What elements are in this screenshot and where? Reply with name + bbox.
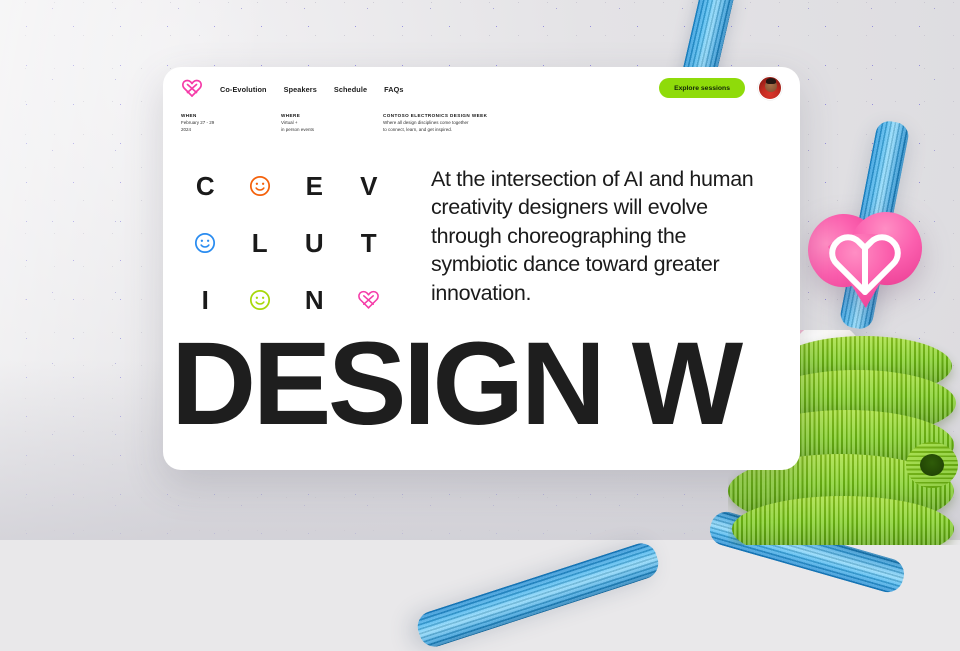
meta-column-where: WHERE Virtual + in person events (281, 113, 383, 134)
explore-sessions-button[interactable]: Explore sessions (659, 78, 745, 98)
letter-grid: C E V (178, 157, 396, 328)
coil-tube-opening (906, 442, 958, 488)
letter-cell (178, 232, 233, 254)
letter-cell: E (287, 173, 342, 199)
pink-heart-cushion (806, 208, 922, 312)
meta-about-title: CONTOSO ELECTRONICS DESIGN WEEK (383, 113, 623, 118)
meta-where-title: WHERE (281, 113, 383, 118)
letter-cell: T (342, 230, 397, 256)
meta-where-line1: Virtual + (281, 120, 383, 127)
letter-cell (233, 175, 288, 197)
grid-letter-t: T (361, 230, 377, 256)
smiley-blue-icon (194, 232, 216, 254)
user-avatar[interactable] (758, 76, 782, 100)
letter-grid-row: C E V (178, 157, 396, 214)
blue-corrugated-tube (414, 539, 663, 650)
letter-cell: N (287, 287, 342, 313)
hero-headline: At the intersection of AI and human crea… (431, 165, 771, 307)
nav-link-schedule[interactable]: Schedule (334, 85, 367, 94)
grid-letter-e: E (306, 173, 323, 199)
hero-card: Co-Evolution Speakers Schedule FAQs Expl… (163, 67, 800, 470)
letter-cell: L (233, 230, 288, 256)
heart-logo-icon (357, 289, 380, 310)
letter-cell (342, 289, 397, 310)
letter-cell: C (178, 173, 233, 199)
nav-link-co-evolution[interactable]: Co-Evolution (220, 85, 267, 94)
meta-where-line2: in person events (281, 127, 383, 134)
letter-grid-row: L U T (178, 214, 396, 271)
nav-links: Co-Evolution Speakers Schedule FAQs (220, 67, 404, 111)
meta-column-when: WHEN February 27 - 29 2024 (181, 113, 281, 134)
grid-letter-c: C (196, 173, 215, 199)
grid-letter-n: N (305, 287, 324, 313)
heart-logo-icon (826, 226, 904, 298)
meta-when-line2: 2024 (181, 127, 281, 134)
nav-link-speakers[interactable]: Speakers (284, 85, 317, 94)
top-navigation: Co-Evolution Speakers Schedule FAQs Expl… (163, 67, 800, 111)
letter-cell: U (287, 230, 342, 256)
grid-letter-l: L (252, 230, 268, 256)
meta-when-line1: February 27 - 29 (181, 120, 281, 127)
heart-logo-icon[interactable] (181, 78, 203, 98)
letter-cell: I (178, 287, 233, 313)
grid-letter-v: V (360, 173, 377, 199)
letter-cell (233, 289, 288, 311)
smiley-lime-icon (249, 289, 271, 311)
meta-about-line1: Where all design disciplines come togeth… (383, 120, 623, 127)
nav-link-faqs[interactable]: FAQs (384, 85, 403, 94)
smiley-orange-icon (249, 175, 271, 197)
grid-letter-u: U (305, 230, 324, 256)
letter-cell: V (342, 173, 397, 199)
grid-letter-i: I (202, 287, 209, 313)
meta-about-line2: to connect, learn, and get inspired. (383, 127, 623, 134)
design-week-wordmark: DESIGN W (171, 325, 740, 443)
meta-when-title: WHEN (181, 113, 281, 118)
meta-column-about: CONTOSO ELECTRONICS DESIGN WEEK Where al… (383, 113, 623, 134)
event-meta: WHEN February 27 - 29 2024 WHERE Virtual… (181, 113, 781, 134)
